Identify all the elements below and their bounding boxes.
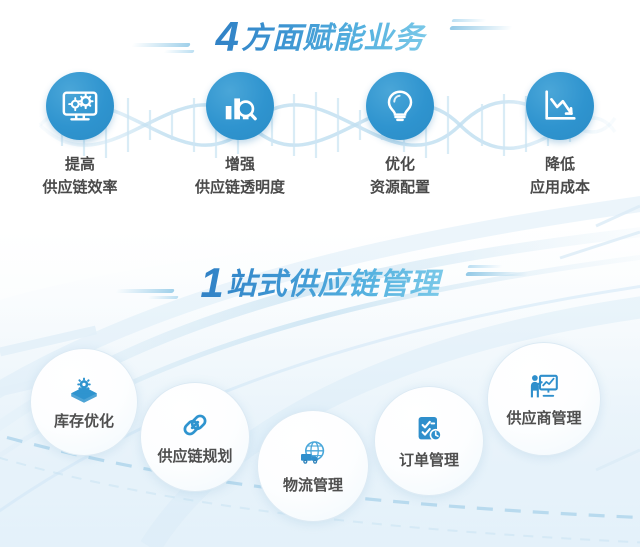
- benefit-label-line2-3: 应用成本: [530, 177, 590, 200]
- benefit-label-3: 降低 应用成本: [530, 154, 590, 199]
- platform-title-number: 1: [200, 259, 226, 306]
- benefit-icon-circle-2: [366, 72, 434, 140]
- benefits-title: 4方面赋能业务: [210, 13, 431, 61]
- section-platform: 1站式供应链管理: [0, 240, 640, 547]
- benefit-label-line2-0: 供应链效率: [42, 177, 117, 200]
- capability-bubble-logistics[interactable]: 物流管理: [257, 410, 369, 522]
- platform-title-text: 站式供应链管理: [226, 268, 440, 301]
- benefit-item-3[interactable]: 降低 应用成本: [485, 72, 635, 199]
- globe-truck-icon: [297, 438, 329, 470]
- benefit-label-line2-1: 供应链透明度: [195, 177, 285, 200]
- chain-link-icon: [179, 409, 211, 441]
- benefits-title-number: 4: [216, 13, 242, 60]
- benefit-item-0[interactable]: 提高 供应链效率: [5, 72, 155, 199]
- benefit-label-0: 提高 供应链效率: [42, 154, 117, 199]
- infographic-canvas: 4方面赋能业务: [0, 0, 640, 547]
- declining-line-chart-icon: [541, 87, 579, 125]
- monitor-gears-icon: [61, 87, 99, 125]
- capability-label-supply-planning: 供应链规划: [157, 445, 232, 466]
- benefit-item-1[interactable]: 增强 供应链透明度: [165, 72, 315, 199]
- lightbulb-icon: [381, 87, 419, 125]
- bar-chart-search-icon: [221, 87, 259, 125]
- inventory-box-gear-icon: [68, 374, 100, 406]
- benefit-icon-circle-1: [206, 72, 274, 140]
- clipboard-clock-icon: [413, 413, 445, 445]
- capability-label-orders: 订单管理: [399, 449, 459, 470]
- benefits-title-row: 4方面赋能业务: [0, 8, 640, 66]
- capability-bubble-inventory[interactable]: 库存优化: [30, 348, 138, 456]
- title-decoration-right: [430, 17, 516, 57]
- benefit-icon-circle-3: [526, 72, 594, 140]
- benefit-icon-circle-0: [46, 72, 114, 140]
- capability-label-logistics: 物流管理: [283, 474, 343, 495]
- benefit-label-line1-2: 优化: [385, 156, 415, 173]
- capability-label-inventory: 库存优化: [54, 410, 114, 431]
- benefit-item-2[interactable]: 优化 资源配置: [325, 72, 475, 199]
- benefit-label-2: 优化 资源配置: [370, 154, 430, 199]
- platform-title-decoration-left: [108, 263, 194, 303]
- presenter-board-icon: [528, 371, 560, 403]
- capability-bubble-suppliers[interactable]: 供应商管理: [487, 342, 601, 456]
- capability-bubble-supply-planning[interactable]: 供应链规划: [140, 382, 250, 492]
- benefits-title-text: 方面赋能业务: [241, 22, 424, 55]
- platform-title-row: 1站式供应链管理: [0, 254, 640, 312]
- platform-capability-list: 库存优化 供应链规划: [0, 328, 640, 528]
- section-benefits: 4方面赋能业务: [0, 0, 640, 240]
- platform-title-decoration-right: [446, 263, 532, 303]
- benefit-label-line1-1: 增强: [225, 156, 255, 173]
- benefit-label-line1-3: 降低: [545, 156, 575, 173]
- benefit-label-line2-2: 资源配置: [370, 177, 430, 200]
- benefits-list: 提高 供应链效率 增强 供应链透明度: [0, 72, 640, 199]
- benefit-label-line1-0: 提高: [65, 156, 95, 173]
- title-decoration-left: [124, 17, 210, 57]
- capability-bubble-orders[interactable]: 订单管理: [374, 386, 484, 496]
- capability-label-suppliers: 供应商管理: [506, 407, 581, 428]
- platform-title: 1站式供应链管理: [194, 259, 445, 307]
- benefit-label-1: 增强 供应链透明度: [195, 154, 285, 199]
